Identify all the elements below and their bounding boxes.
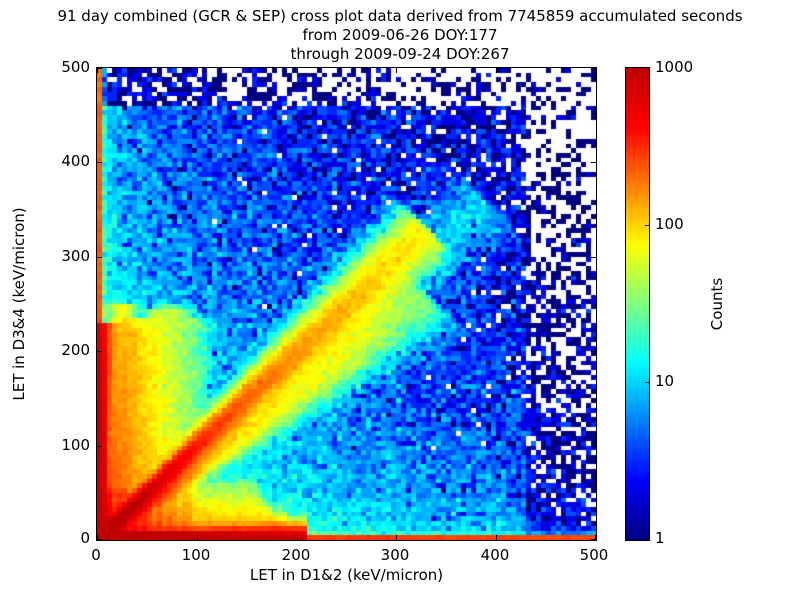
x-tick-top-200	[297, 68, 298, 73]
title-line-1: 91 day combined (GCR & SEP) cross plot d…	[0, 7, 800, 26]
figure: 91 day combined (GCR & SEP) cross plot d…	[0, 0, 800, 600]
y-tick-label-300: 300	[61, 247, 90, 265]
x-tick-label-500: 500	[580, 546, 609, 564]
x-tick-300	[396, 535, 397, 540]
y-tick-label-0: 0	[80, 529, 90, 547]
x-axis-label: LET in D1&2 (keV/micron)	[96, 566, 597, 584]
y-axis-label: LET in D3&4 (keV/micron)	[10, 207, 28, 400]
y-tick-200	[97, 351, 102, 352]
y-tick-right-0	[591, 539, 596, 540]
x-tick-label-0: 0	[91, 546, 101, 564]
x-tick-label-100: 100	[182, 546, 211, 564]
y-tick-label-100: 100	[61, 436, 90, 454]
scatter-heatmap-canvas	[97, 68, 596, 540]
x-tick-label-400: 400	[481, 546, 510, 564]
colorbar	[625, 67, 650, 541]
title-line-2: from 2009-06-26 DOY:177	[0, 26, 800, 45]
y-tick-right-100	[591, 446, 596, 447]
colorbar-tick-label-1: 1	[655, 529, 665, 547]
y-tick-right-500	[591, 68, 596, 69]
x-tick-400	[496, 535, 497, 540]
x-tick-100	[197, 535, 198, 540]
x-tick-label-200: 200	[282, 546, 311, 564]
y-tick-label-400: 400	[61, 152, 90, 170]
y-tick-400	[97, 162, 102, 163]
y-tick-label-200: 200	[61, 341, 90, 359]
y-tick-right-200	[591, 351, 596, 352]
chart-title: 91 day combined (GCR & SEP) cross plot d…	[0, 7, 800, 64]
x-tick-200	[297, 535, 298, 540]
y-tick-0	[97, 539, 102, 540]
y-tick-label-500: 500	[61, 58, 90, 76]
colorbar-tick-10	[645, 382, 649, 383]
y-tick-right-300	[591, 257, 596, 258]
colorbar-gradient	[626, 68, 649, 540]
colorbar-label: Counts	[708, 278, 726, 330]
colorbar-tick-100	[645, 225, 649, 226]
y-tick-right-400	[591, 162, 596, 163]
y-tick-100	[97, 446, 102, 447]
colorbar-tick-label-10: 10	[655, 372, 674, 390]
plot-axes	[96, 67, 597, 541]
colorbar-tick-label-1000: 1000	[655, 58, 693, 76]
y-tick-300	[97, 257, 102, 258]
x-tick-top-300	[396, 68, 397, 73]
x-tick-label-300: 300	[381, 546, 410, 564]
colorbar-tick-label-100: 100	[655, 215, 684, 233]
x-tick-top-400	[496, 68, 497, 73]
y-tick-500	[97, 68, 102, 69]
x-tick-top-100	[197, 68, 198, 73]
